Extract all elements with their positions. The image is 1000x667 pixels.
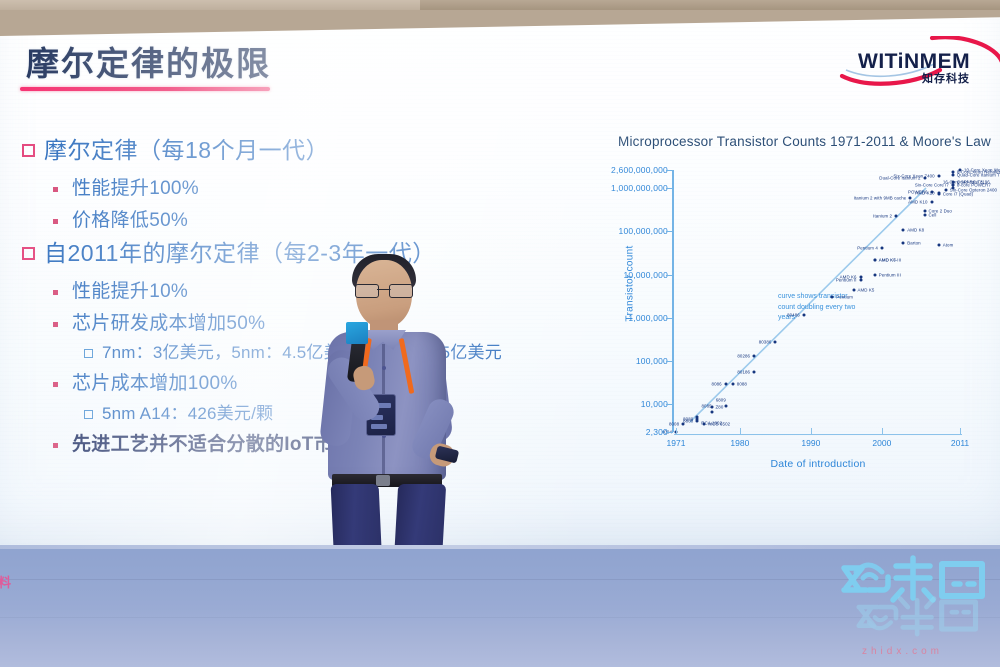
chart-data-point (710, 406, 713, 409)
chart-data-point (902, 229, 905, 232)
chart-x-tick-mark (882, 428, 883, 434)
watermark-url: zhidx.com (862, 646, 943, 657)
chart-x-tick-mark (676, 428, 677, 434)
slide-title: 摩尔定律的极限 (26, 37, 271, 85)
bullet-marker-icon (53, 443, 58, 448)
chart-data-point (859, 278, 862, 281)
chart-data-point (880, 246, 883, 249)
chart-point-label: 6809 (716, 398, 726, 403)
bullet-item: 摩尔定律（每18个月一代） (18, 136, 618, 166)
chart-point-label: MOS 6502 (708, 422, 730, 427)
bullet-text: 芯片成本增加100% (72, 371, 238, 397)
chart-point-label: 80386 (759, 340, 772, 345)
chart-y-tick-mark (666, 188, 673, 189)
chart-point-label: 8086 (712, 382, 722, 387)
chart-x-axis (674, 434, 962, 435)
chart-point-label: AMD K6 (840, 274, 857, 279)
chart-point-label: AMD K6-III (879, 258, 901, 263)
bullet-text: 性能提升10% (72, 279, 188, 305)
chart-data-point (859, 275, 862, 278)
chart-point-label: 8-Core Xeon Nehalem-EX (957, 170, 1000, 175)
bullet-marker-icon (53, 322, 58, 327)
chart-data-point (923, 213, 926, 216)
bullet-text: 芯片研发成本增加50% (72, 311, 265, 337)
zhidongxi-logo-reflection-icon (852, 594, 984, 646)
chart-point-label: Pentium (836, 294, 853, 299)
chart-y-tick-label: 100,000,000 (619, 226, 668, 236)
chart-data-point (696, 420, 699, 423)
chart-data-point (951, 173, 954, 176)
chart-point-label: Six-Core Xeon 7400 (893, 173, 934, 178)
chart-point-label: AMD K8 (907, 228, 924, 233)
chart-point-label: 6800 (683, 419, 693, 424)
chart-point-label: Itanium 2 with 9MB cache (854, 195, 907, 200)
source-note: 资料 (0, 572, 12, 591)
chart-y-tick-label: 1,000,000,000 (611, 183, 668, 193)
chart-point-label: Cell (929, 212, 937, 217)
chart-point-label: AMD K5 (858, 288, 875, 293)
chart-data-point (852, 289, 855, 292)
bullet-text: 摩尔定律（每18个月一代） (44, 136, 329, 166)
chart-x-tick-mark (740, 428, 741, 434)
bullet-item: 价格降低50% (18, 208, 618, 234)
chart-data-point (951, 171, 954, 174)
chart-x-tick-label: 1971 (667, 438, 686, 448)
chart-x-tick-mark (960, 428, 961, 434)
bullet-marker-icon (53, 290, 58, 295)
chart-data-point (831, 295, 834, 298)
chart-y-tick-mark (666, 404, 673, 405)
projection-screen: 摩尔定律的极限 WITiNMEM 知存科技 摩尔定律（每18个月一代）性能提升1… (0, 10, 1000, 548)
chart-y-tick-label: 1,000,000 (628, 313, 668, 323)
bullet-text: 性能提升100% (72, 176, 199, 202)
chart-data-point (909, 196, 912, 199)
chart-point-label: Atom (943, 243, 954, 248)
chart-y-tick-label: 10,000,000 (623, 270, 668, 280)
chart-point-label: Barton (907, 240, 921, 245)
chart-xlabel: Date of introduction (674, 458, 962, 470)
chart-point-label: Quad-core z196 (957, 179, 990, 184)
chart-x-tick-label: 1990 (801, 438, 820, 448)
chart-data-point (753, 354, 756, 357)
chart-data-point (937, 192, 940, 195)
chart-y-tick-mark (666, 432, 673, 433)
chart-data-point (710, 411, 713, 414)
bullet-marker-icon (84, 349, 93, 358)
chart-data-point (951, 186, 954, 189)
chart-data-point (802, 313, 805, 316)
chart-x-tick-label: 2011 (951, 438, 969, 448)
chart-point-label: Pentium 4 (857, 245, 878, 250)
bullet-item: 性能提升100% (18, 176, 618, 202)
chart-point-label: AMD K10 (915, 191, 935, 196)
chart-x-tick-label: 1980 (730, 438, 749, 448)
bullet-marker-icon (22, 247, 35, 260)
bullet-marker-icon (22, 144, 35, 157)
chart-point-label: Z80 (716, 405, 724, 410)
chart-y-tick-mark (666, 275, 673, 276)
chart-data-point (724, 405, 727, 408)
bullet-text: 5nm A14：426美元/颗 (102, 403, 273, 426)
chart-y-tick-label: 2,600,000,000 (611, 165, 668, 175)
chart-point-label: 8088 (737, 382, 747, 387)
bullet-marker-icon (53, 382, 58, 387)
chart-data-point (937, 244, 940, 247)
chart-point-label: Itanium 2 (873, 214, 892, 219)
chart-y-tick-mark (666, 231, 673, 232)
chart-x-tick-mark (811, 428, 812, 434)
microphone-flag (346, 322, 368, 344)
chart-data-point (902, 241, 905, 244)
chart-y-tick-mark (666, 361, 673, 362)
chart-y-tick-label: 10,000 (641, 399, 668, 409)
screenshot-frame: 摩尔定律的极限 WITiNMEM 知存科技 摩尔定律（每18个月一代）性能提升1… (0, 0, 1000, 667)
chart-data-point (951, 180, 954, 183)
chart-data-point (951, 183, 954, 186)
chart-point-label: 80186 (737, 370, 750, 375)
chart-data-point (724, 383, 727, 386)
chart-ylabel: Transistor count (625, 224, 636, 344)
company-logo: WITiNMEM 知存科技 (836, 36, 1000, 88)
chart-data-point (774, 341, 777, 344)
chart-data-point (731, 383, 734, 386)
chart-data-point (944, 188, 947, 191)
chart-data-point (930, 201, 933, 204)
bullet-marker-icon (53, 187, 58, 192)
chart-data-point (703, 423, 706, 426)
chart-y-tick-label: 2,300 (646, 427, 668, 437)
chart-data-point (937, 174, 940, 177)
chart-point-label: AMD K10 (908, 200, 928, 205)
chart-data-point (923, 210, 926, 213)
chart-point-label: 80286 (737, 353, 750, 358)
chart-data-point (895, 215, 898, 218)
bullet-text: 价格降低50% (72, 208, 188, 234)
chart-x-tick-label: 2000 (872, 438, 891, 448)
chart-title: Microprocessor Transistor Counts 1971-20… (618, 134, 991, 149)
chart-point-label: 80486 (787, 312, 800, 317)
bullet-marker-icon (84, 410, 93, 419)
chart-plot-area: curve shows transistor count doubling ev… (674, 164, 974, 432)
chart-point-label: 8008 (669, 422, 679, 427)
chart-point-label: Six-Core Opteron 2400 (950, 187, 997, 192)
chart-y-tick-mark (666, 170, 673, 171)
chart-data-point (873, 259, 876, 262)
speaker-glasses (355, 284, 413, 296)
chart-y-tick-label: 100,000 (636, 356, 668, 366)
chart-data-point (753, 371, 756, 374)
title-underline (20, 87, 270, 91)
chart-data-point (873, 274, 876, 277)
chart-point-label: Pentium III (879, 273, 901, 278)
logo-subtitle: 知存科技 (922, 70, 970, 86)
bullet-marker-icon (53, 219, 58, 224)
chart-y-tick-mark (666, 318, 673, 319)
moores-law-chart: Microprocessor Transistor Counts 1971-20… (596, 128, 994, 480)
watermark-reflection (852, 592, 984, 646)
